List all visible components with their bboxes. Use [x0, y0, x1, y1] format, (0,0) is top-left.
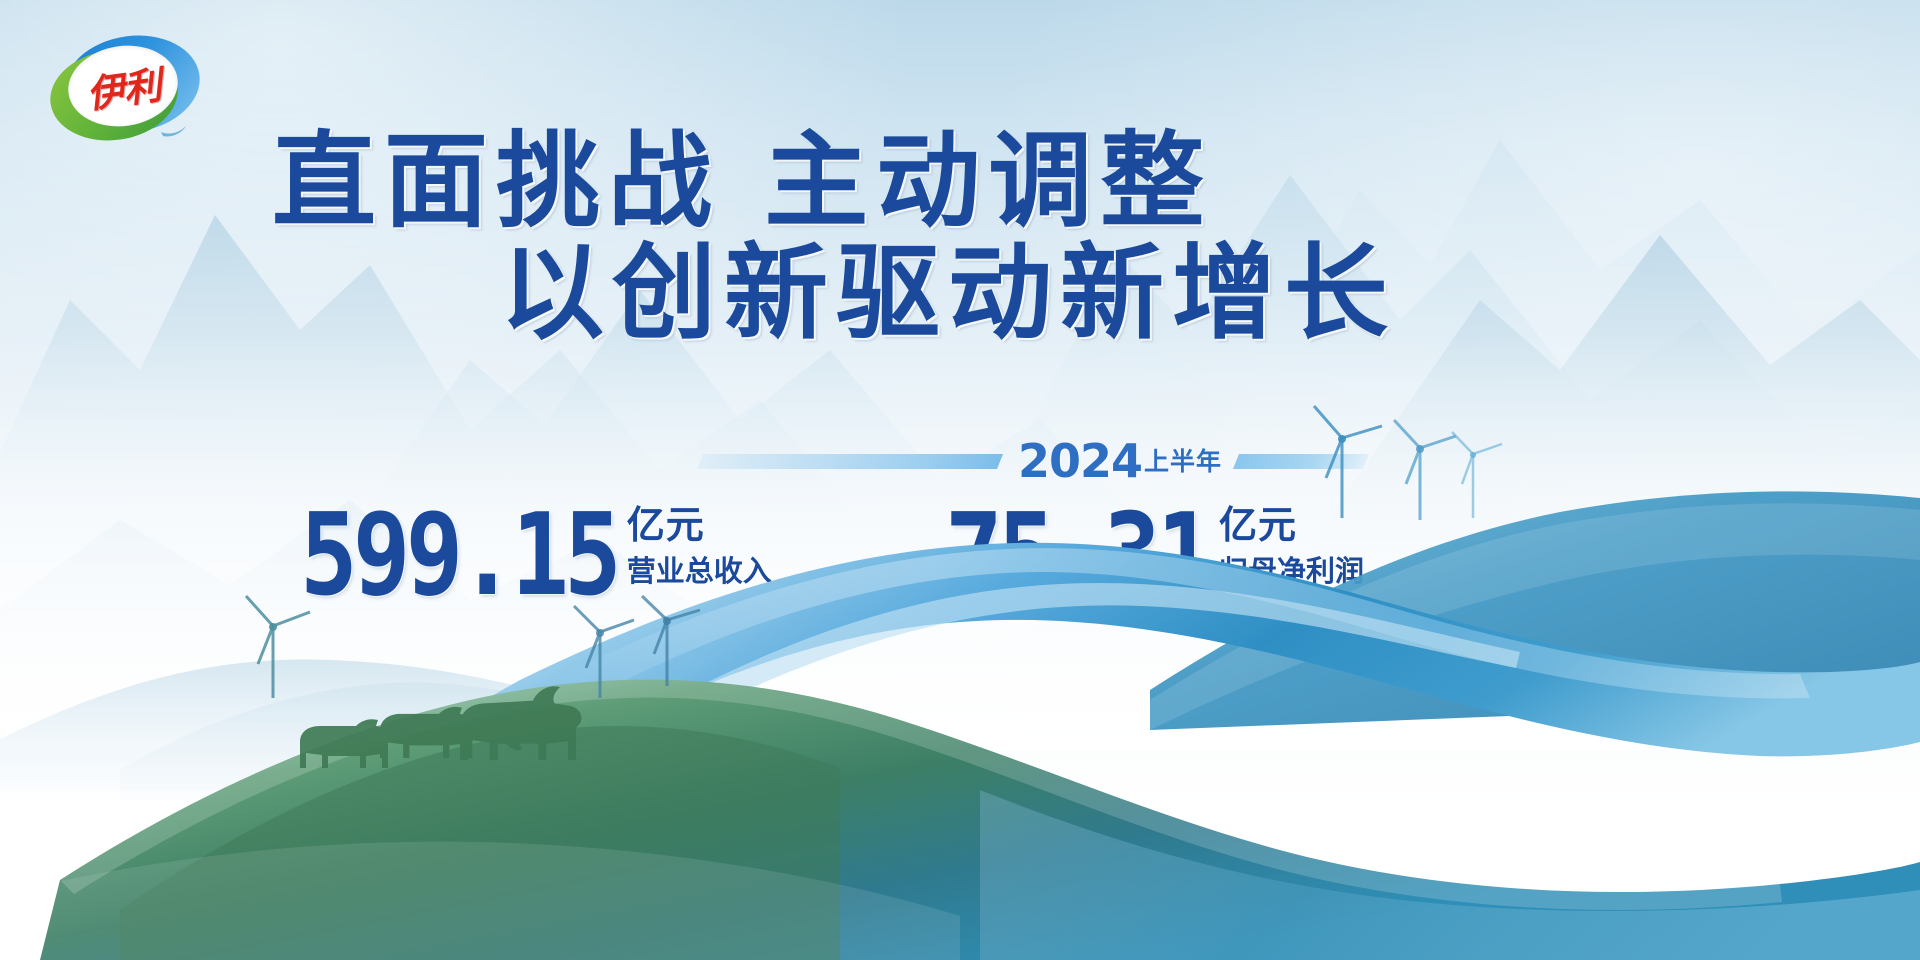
period-half-label: 上半年 [1144, 449, 1222, 474]
stat-text-group: 亿元 归母净利润 [1219, 496, 1364, 586]
period-bar-left [697, 454, 1003, 469]
stat-value: 75.31 [945, 496, 1209, 612]
cow-icon [300, 719, 393, 768]
period-badge: 2024 上半年 [700, 440, 1500, 482]
period-bar-right [1233, 454, 1369, 469]
stat-text-group: 亿元 营业总收入 [627, 496, 772, 586]
cow-icon [460, 686, 582, 760]
headline-line-1: 直面挑战 主动调整 [272, 128, 1212, 234]
brand-logo[interactable]: 伊利 [48, 34, 200, 140]
stat-label: 归母净利润 [1219, 556, 1364, 586]
stat-unit: 亿元 [1219, 506, 1364, 546]
key-figures: 599.15 亿元 营业总收入 75.31 亿元 归母净利润 [0, 496, 1920, 636]
stat-net-profit: 75.31 亿元 归母净利润 [945, 496, 1364, 594]
poster-canvas: 伊利 直面挑战 主动调整 以创新驱动新增长 2024 上半年 599.15 亿元… [0, 0, 1920, 960]
stat-label: 营业总收入 [627, 556, 772, 586]
cow-icon [380, 707, 477, 758]
stat-value: 599.15 [300, 496, 617, 612]
stat-revenue: 599.15 亿元 营业总收入 [300, 496, 772, 594]
period-year: 2024 [1018, 438, 1142, 484]
headline-line-2: 以创新驱动新增长 [500, 240, 1396, 346]
stat-unit: 亿元 [627, 506, 772, 546]
logo-swoosh-icon [160, 120, 194, 138]
